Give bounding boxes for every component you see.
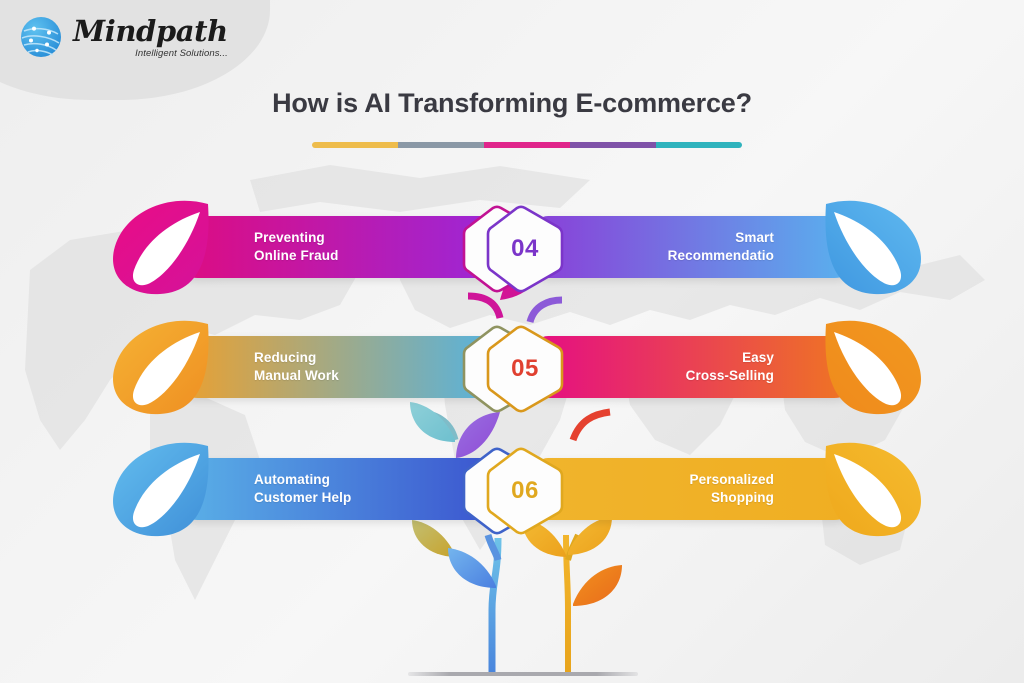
- item-hexagon-04[interactable]: 04: [482, 204, 568, 294]
- item-leaf-03: [108, 196, 216, 298]
- item-banner-05[interactable]: Easy Cross-Selling: [534, 336, 864, 398]
- brand-logo[interactable]: Mindpath Intelligent Solutions...: [18, 14, 228, 60]
- infographic-canvas: Mindpath Intelligent Solutions... How is…: [0, 0, 1024, 683]
- title-rule-segment-2: [398, 142, 484, 148]
- item-number-06: 06: [511, 477, 539, 505]
- leaf-icon: [818, 438, 926, 540]
- item-leaf-04: [818, 196, 926, 298]
- ground-line: [408, 672, 638, 676]
- leaf-icon: [108, 196, 216, 298]
- item-number-05: 05: [511, 355, 539, 383]
- leaf-icon: [108, 316, 216, 418]
- title-rule-segment-1: [312, 142, 398, 148]
- title-rule-segment-5: [656, 142, 742, 148]
- item-leaf-05: [818, 316, 926, 418]
- item-row-06: Personalized Shopping06: [436, 440, 926, 536]
- item-row-05: Easy Cross-Selling05: [436, 318, 926, 414]
- item-leaf-06: [818, 438, 926, 540]
- title-rule-segment-3: [484, 142, 570, 148]
- item-banner-04[interactable]: Smart Recommendatio: [534, 216, 864, 278]
- leaf-icon: [818, 196, 926, 298]
- title-rule-segment-4: [570, 142, 656, 148]
- page-title: How is AI Transforming E-commerce?: [0, 88, 1024, 119]
- item-leaf-02: [108, 316, 216, 418]
- item-number-04: 04: [511, 235, 539, 263]
- brand-tagline: Intelligent Solutions...: [73, 49, 228, 59]
- item-leaf-01: [108, 438, 216, 540]
- brand-name: Mindpath: [73, 17, 228, 46]
- title-divider-rule: [312, 142, 742, 148]
- item-hexagon-05[interactable]: 05: [482, 324, 568, 414]
- item-row-04: Smart Recommendatio04: [436, 198, 926, 294]
- leaf-icon: [108, 438, 216, 540]
- leaf-icon: [818, 316, 926, 418]
- item-banner-06[interactable]: Personalized Shopping: [534, 458, 864, 520]
- globe-network-icon: [18, 14, 64, 60]
- item-hexagon-06[interactable]: 06: [482, 446, 568, 536]
